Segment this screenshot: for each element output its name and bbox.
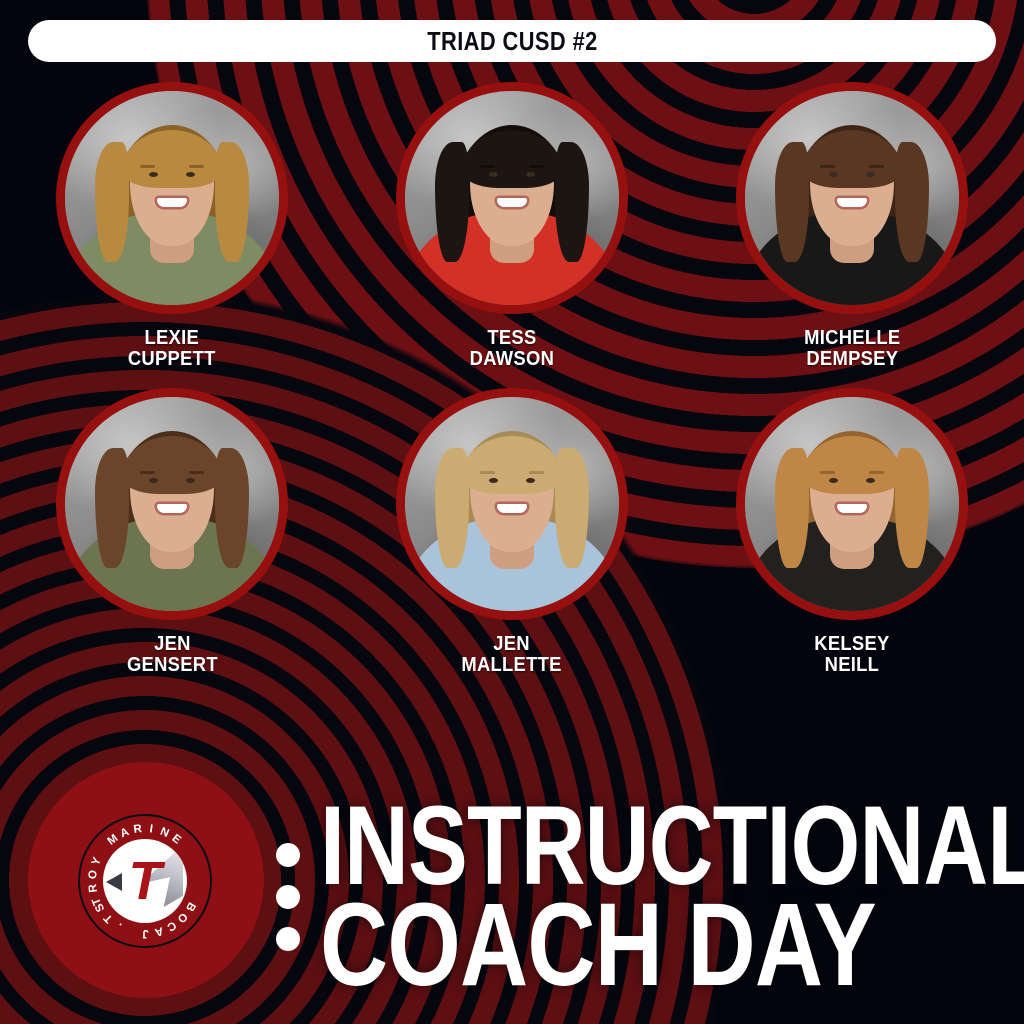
eye-left — [489, 478, 498, 483]
hair-front — [462, 436, 562, 494]
dot-icon — [276, 885, 300, 909]
logo-ring-char: A — [119, 826, 132, 841]
hair-front — [122, 436, 222, 494]
portrait-figure — [745, 91, 959, 305]
smile-mouth — [157, 198, 187, 207]
eye-left — [829, 478, 838, 483]
smile-mouth — [837, 504, 867, 513]
logo-ring-char: E — [170, 832, 184, 847]
staff-first-name: JEN — [462, 634, 562, 655]
district-title: TRIAD CUSD #2 — [427, 26, 598, 57]
district-header-banner: TRIAD CUSD #2 — [28, 20, 996, 62]
smile-mouth — [497, 504, 527, 513]
staff-name-label: LEXIE CUPPETT — [128, 328, 216, 370]
staff-card-lexie-cuppett[interactable]: LEXIE CUPPETT — [26, 82, 318, 370]
portrait-photo-kelsey-neill — [736, 388, 968, 620]
staff-name-label: JEN MALLETTE — [462, 634, 562, 676]
staff-name-label: TESS DAWSON — [470, 328, 554, 370]
staff-last-name: CUPPETT — [128, 349, 216, 370]
smile-mouth — [157, 504, 187, 513]
portrait-photo-lexie-cuppett — [56, 82, 288, 314]
eyebrow-right — [189, 165, 204, 168]
staff-card-tess-dawson[interactable]: TESS DAWSON — [366, 82, 658, 370]
logo-inner-disc: T — [103, 839, 187, 923]
staff-first-name: MICHELLE — [804, 328, 900, 349]
portrait-photo-jen-gensert — [56, 388, 288, 620]
staff-name-label: JEN GENSERT — [127, 634, 218, 676]
portrait-photo-tess-dawson — [396, 82, 628, 314]
eyebrow-right — [189, 471, 204, 474]
logo-ring-char: R — [87, 882, 100, 893]
staff-last-name: NEILL — [814, 655, 889, 676]
staff-portrait-grid: LEXIE CUPPETT — [0, 82, 1024, 676]
portrait-figure — [405, 91, 619, 305]
eye-right — [186, 172, 195, 177]
eye-right — [186, 478, 195, 483]
staff-card-kelsey-neill[interactable]: KELSEY NEILL — [706, 388, 998, 676]
poster-canvas: TRIAD CUSD #2 — [0, 0, 1024, 1024]
eye-right — [866, 172, 875, 177]
eye-left — [149, 478, 158, 483]
portrait-figure — [745, 397, 959, 611]
eye-right — [866, 478, 875, 483]
portrait-figure — [65, 397, 279, 611]
staff-card-jen-mallette[interactable]: JEN MALLETTE — [366, 388, 658, 676]
staff-card-jen-gensert[interactable]: JEN GENSERT — [26, 388, 318, 676]
eyebrow-left — [480, 165, 495, 168]
portrait-figure — [65, 91, 279, 305]
staff-last-name: MALLETTE — [462, 655, 562, 676]
eyebrow-right — [869, 471, 884, 474]
portrait-photo-michelle-dempsey — [736, 82, 968, 314]
eyebrow-left — [820, 165, 835, 168]
eye-left — [489, 172, 498, 177]
smile-mouth — [837, 198, 867, 207]
staff-first-name: KELSEY — [814, 634, 889, 655]
hair-front — [462, 130, 562, 188]
logo-ring-char: M — [105, 832, 121, 848]
staff-last-name: DAWSON — [470, 349, 554, 370]
district-logo-badge[interactable]: MARINEST. JACOBTROY T — [78, 814, 212, 948]
eyebrow-left — [140, 165, 155, 168]
eyebrow-left — [140, 471, 155, 474]
eyebrow-right — [869, 165, 884, 168]
dot-icon — [276, 843, 300, 867]
staff-row: LEXIE CUPPETT — [0, 82, 1024, 370]
eyebrow-left — [820, 471, 835, 474]
logo-ring-char: . — [114, 920, 124, 932]
headline-line-2: COACH DAY — [320, 895, 1024, 996]
logo-monogram-t: T — [129, 854, 162, 908]
logo-ring-char: A — [152, 924, 164, 938]
smile-mouth — [497, 198, 527, 207]
logo-ring-char: B — [183, 900, 198, 914]
staff-first-name: JEN — [127, 634, 218, 655]
eyebrow-right — [529, 165, 544, 168]
eye-left — [829, 172, 838, 177]
staff-last-name: DEMPSEY — [804, 349, 900, 370]
staff-first-name: LEXIE — [128, 328, 216, 349]
staff-name-label: KELSEY NEILL — [814, 634, 889, 676]
eye-right — [526, 478, 535, 483]
hair-front — [802, 130, 902, 188]
portrait-photo-jen-mallette — [396, 388, 628, 620]
event-headline: INSTRUCTIONAL COACH DAY — [320, 798, 1024, 996]
logo-ring-char: T — [101, 911, 115, 925]
eyebrow-right — [529, 471, 544, 474]
logo-ring-char: J — [141, 927, 148, 939]
staff-name-label: MICHELLE DEMPSEY — [804, 328, 900, 370]
eye-right — [526, 172, 535, 177]
three-dot-separator-icon — [276, 843, 300, 951]
logo-ring-char: C — [164, 919, 178, 934]
logo-ring-char: I — [149, 823, 155, 835]
staff-last-name: GENSERT — [127, 655, 218, 676]
logo-ring-char: R — [133, 823, 144, 836]
eyebrow-left — [480, 471, 495, 474]
logo-arrow-left — [106, 873, 122, 891]
logo-ring-char: Y — [90, 855, 104, 868]
logo-ring-char: O — [174, 910, 190, 926]
dot-icon — [276, 927, 300, 951]
hair-front — [122, 130, 222, 188]
logo-ring-char: N — [158, 826, 171, 841]
eye-left — [149, 172, 158, 177]
staff-first-name: TESS — [470, 328, 554, 349]
staff-row: JEN GENSERT — [0, 388, 1024, 676]
logo-ring-char: O — [87, 868, 100, 879]
hair-front — [802, 436, 902, 494]
portrait-figure — [405, 397, 619, 611]
staff-card-michelle-dempsey[interactable]: MICHELLE DEMPSEY — [706, 82, 998, 370]
